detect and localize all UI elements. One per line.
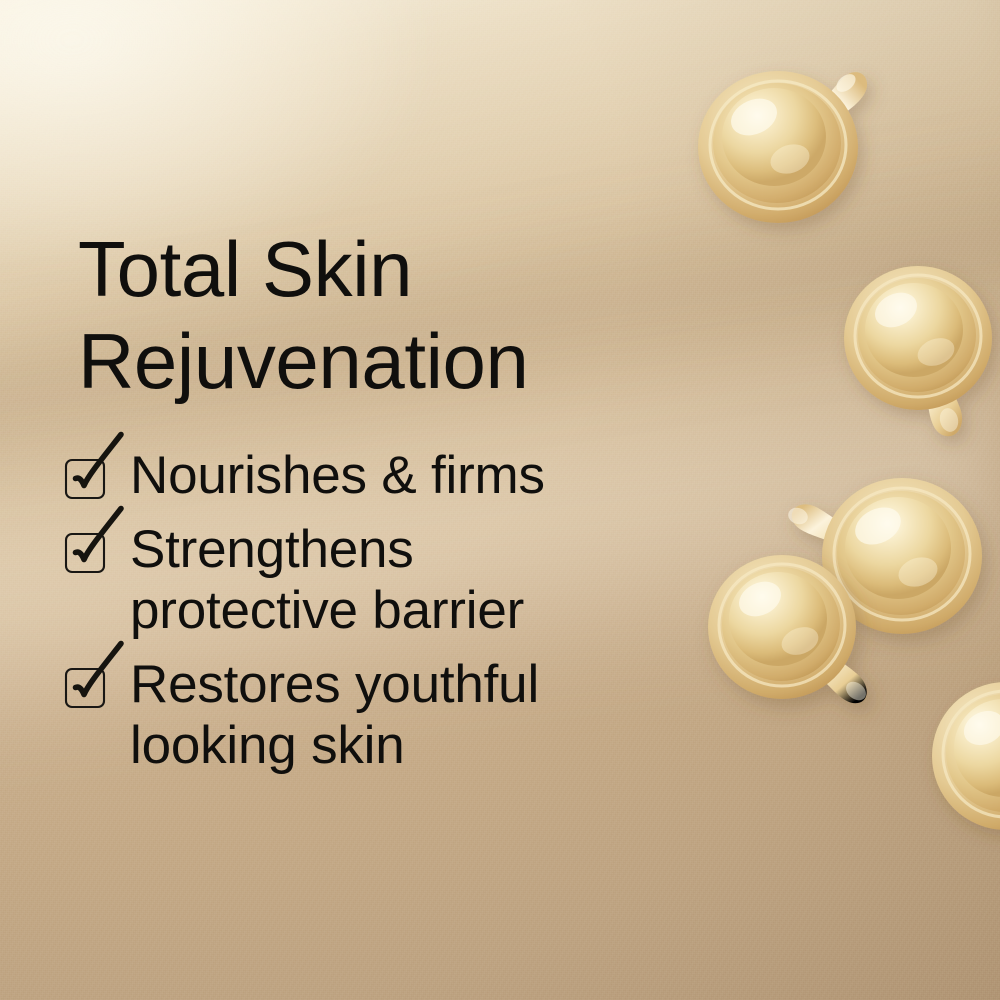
benefit-item-2: Strengthens protective barrier: [66, 520, 766, 641]
benefit-item-1: Nourishes & firms: [66, 446, 766, 506]
benefit-list: Nourishes & firms Strengthens protective…: [66, 446, 766, 776]
checkbox-checked-icon[interactable]: [66, 459, 106, 499]
product-benefit-banner: Total Skin Rejuvenation Nourishes & firm…: [0, 0, 1000, 1000]
checkbox-checked-icon[interactable]: [66, 533, 106, 573]
benefit-text-3: Restores youthful looking skin: [130, 655, 539, 776]
benefit-line: protective barrier: [130, 581, 524, 641]
benefit-text-1: Nourishes & firms: [130, 446, 545, 506]
headline-line-2: Rejuvenation: [78, 316, 758, 407]
checkbox-checked-icon[interactable]: [66, 668, 106, 708]
benefit-line: Strengthens: [130, 520, 524, 580]
benefit-line: Restores youthful: [130, 655, 539, 715]
benefit-line: Nourishes & firms: [130, 446, 545, 506]
page-title: Total Skin Rejuvenation: [78, 224, 758, 407]
benefit-item-3: Restores youthful looking skin: [66, 655, 766, 776]
benefit-line: looking skin: [130, 716, 539, 776]
benefit-text-2: Strengthens protective barrier: [130, 520, 524, 641]
capsule-lower-front: [706, 545, 916, 725]
headline-line-1: Total Skin: [78, 224, 758, 315]
